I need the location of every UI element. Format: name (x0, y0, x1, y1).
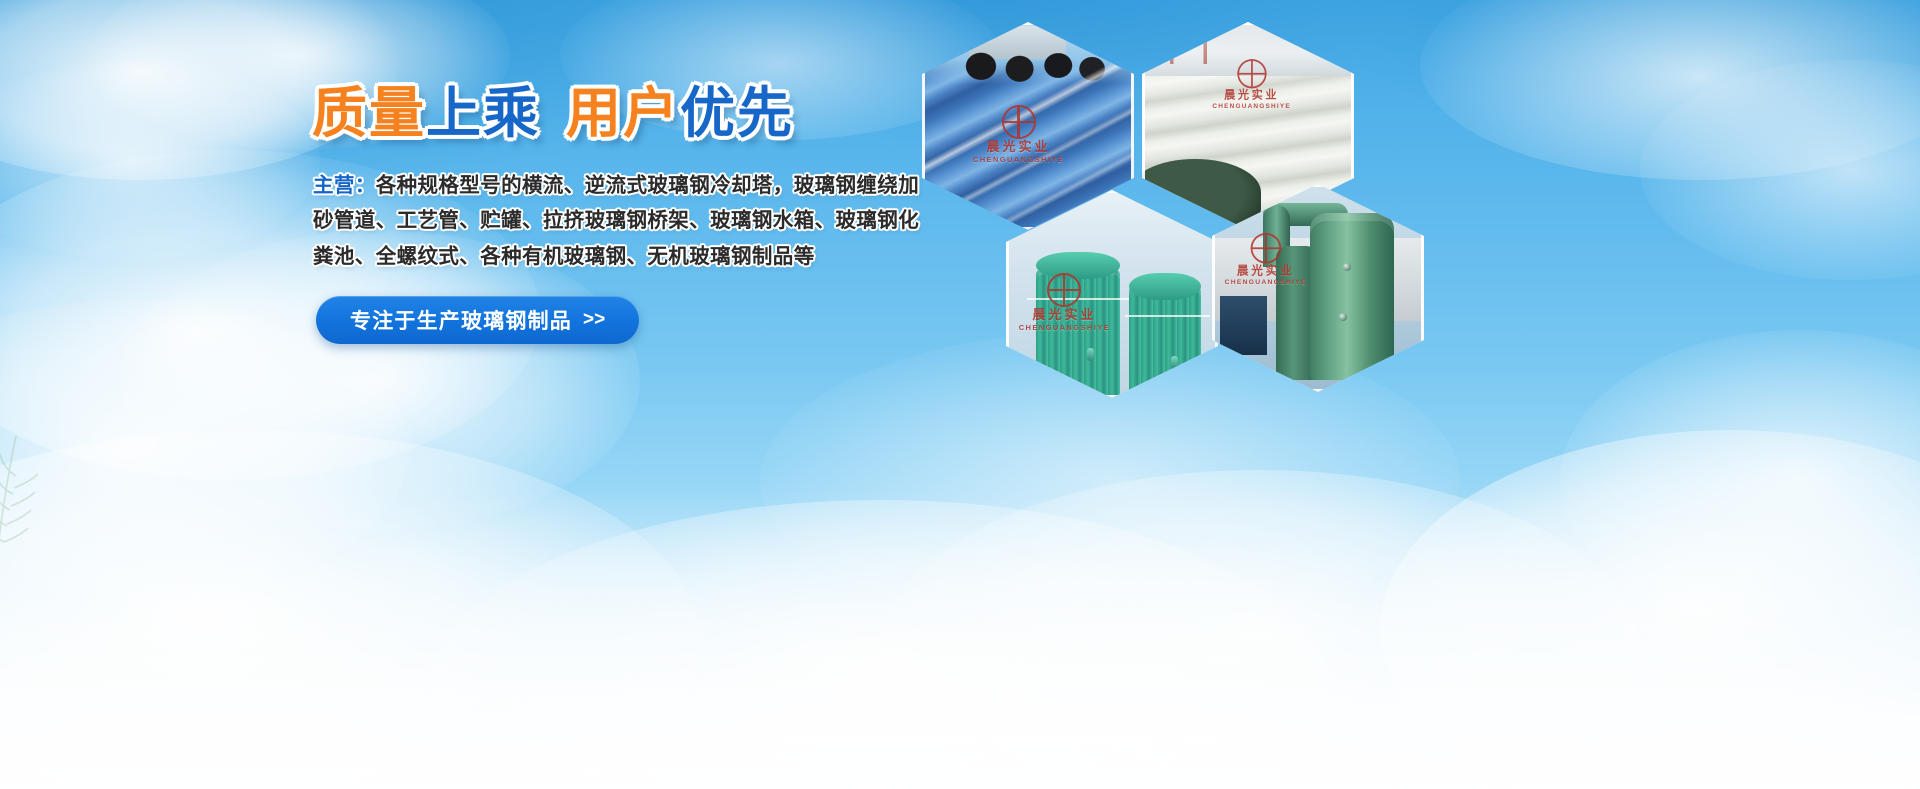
double-chevron-right-icon: >> (583, 309, 605, 331)
description-line-1: 主营：各种规格型号的横流、逆流式玻璃钢冷却塔，玻璃钢缠绕加 (313, 168, 930, 203)
photo-tower-1 (1036, 269, 1121, 398)
promo-banner: 质量上乘用户优先 主营：各种规格型号的横流、逆流式玻璃钢冷却塔，玻璃钢缠绕加 砂… (0, 0, 1920, 789)
headline-segment-3: 用户 (566, 82, 680, 144)
description-line-3: 粪池、全螺纹式、各种有机玻璃钢、无机玻璃钢制品等 (313, 239, 930, 274)
photo-tower-cap-2 (1129, 273, 1201, 300)
photo-railing-1 (1027, 298, 1129, 300)
photo-railing-2 (1125, 315, 1210, 317)
bottom-haze (0, 489, 1920, 789)
description-line-2: 砂管道、工艺管、贮罐、拉挤玻璃钢桥架、玻璃钢水箱、玻璃钢化 (313, 203, 930, 238)
photo-nozzle-2 (1171, 356, 1178, 369)
banner-copy: 质量上乘用户优先 主营：各种规格型号的横流、逆流式玻璃钢冷却塔，玻璃钢缠绕加 砂… (310, 86, 930, 344)
product-hex-gallery: 晨光实业 CHENGUANGSHIYE 晨光实业 CHENGUANGSHIYE (920, 8, 1430, 408)
cta-label: 专注于生产玻璃钢制品 (350, 305, 572, 335)
headline-segment-2: 上乘 (426, 82, 540, 144)
photo-vessel-main (1310, 213, 1395, 379)
photo-doorway (1220, 296, 1267, 354)
photo-tower-cap-1 (1036, 252, 1121, 279)
banner-headline: 质量上乘用户优先 (312, 86, 930, 141)
description-key-label: 主营： (313, 174, 376, 197)
photo-tower-2 (1129, 286, 1201, 398)
headline-segment-1: 质量 (312, 82, 426, 144)
cta-button[interactable]: 专注于生产玻璃钢制品 >> (316, 296, 639, 344)
headline-segment-4: 优先 (680, 82, 794, 144)
palm-frond-decoration (0, 410, 60, 580)
photo-nozzle-1 (1087, 348, 1094, 361)
banner-description: 主营：各种规格型号的横流、逆流式玻璃钢冷却塔，玻璃钢缠绕加 砂管道、工艺管、贮罐… (313, 168, 930, 274)
description-line-1-text: 各种规格型号的横流、逆流式玻璃钢冷却塔，玻璃钢缠绕加 (376, 174, 919, 197)
